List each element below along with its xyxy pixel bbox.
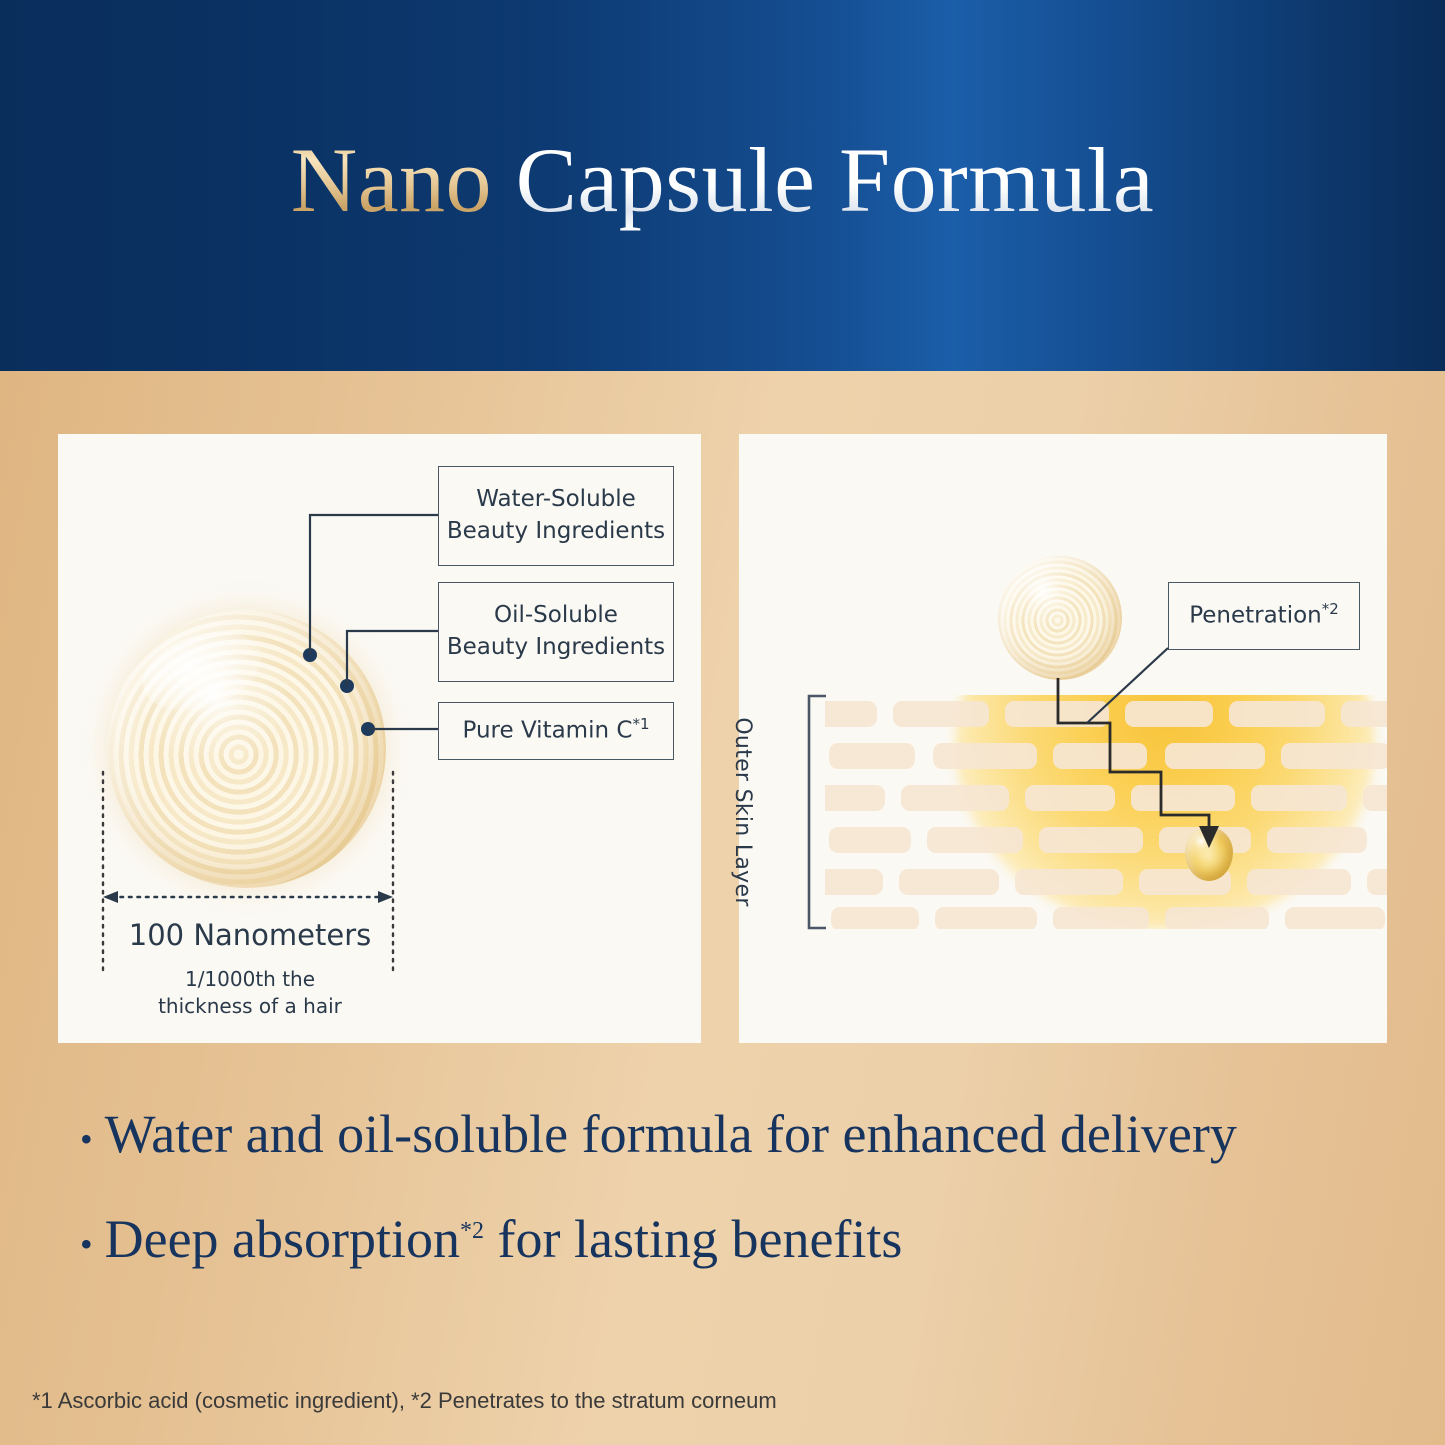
skin-cell <box>1165 743 1265 769</box>
skin-cell <box>1267 827 1367 853</box>
skin-cell <box>1251 785 1347 811</box>
skin-cell <box>831 907 919 929</box>
skin-cell <box>1005 701 1109 727</box>
nano-capsule-illustration <box>108 610 386 888</box>
skin-cell <box>927 827 1023 853</box>
callout-dot-water-soluble <box>303 648 317 662</box>
dimension-value: 100 Nanometers <box>100 918 400 952</box>
label-water-soluble-line2: Beauty Ingredients <box>447 518 665 544</box>
footnote-text: *1 Ascorbic acid (cosmetic ingredient), … <box>32 1388 777 1414</box>
skin-cell <box>1229 701 1325 727</box>
skin-cell <box>1341 701 1387 727</box>
skin-cell <box>1131 785 1235 811</box>
title-word-nano: Nano <box>291 129 492 231</box>
skin-cell <box>1015 869 1123 895</box>
skin-cell <box>1125 701 1213 727</box>
dimension-subtext-line2: thickness of a hair <box>158 994 342 1018</box>
title-word-capsule-formula: Capsule Formula <box>492 129 1154 231</box>
skin-cell <box>825 701 877 727</box>
skin-cell <box>1039 827 1143 853</box>
skin-cell <box>893 701 989 727</box>
label-penetration-text: Penetration <box>1189 603 1322 629</box>
skin-cell <box>933 743 1037 769</box>
skin-cell <box>1363 785 1387 811</box>
skin-cell <box>1285 907 1385 929</box>
skin-cell <box>829 827 911 853</box>
benefit-item-2-text-before: Deep absorption <box>105 1209 460 1269</box>
bullet-marker: • <box>80 1224 105 1264</box>
page-title: Nano Capsule Formula <box>0 132 1445 229</box>
label-water-soluble-line1: Water-Soluble <box>476 486 636 512</box>
benefit-item-2-superscript: *2 <box>460 1218 484 1244</box>
outer-skin-layer-label: Outer Skin Layer <box>730 700 755 924</box>
dimension-subtext-line1: 1/1000th the <box>185 967 315 991</box>
label-oil-soluble-line1: Oil-Soluble <box>494 602 618 628</box>
dimension-subtext: 1/1000th the thickness of a hair <box>100 966 400 1020</box>
nano-capsule-small-illustration <box>998 556 1122 680</box>
label-pure-vitamin-c-text: Pure Vitamin C <box>463 718 633 744</box>
label-pure-vitamin-c: Pure Vitamin C*1 <box>438 702 674 760</box>
label-oil-soluble: Oil-Soluble Beauty Ingredients <box>438 582 674 682</box>
label-oil-soluble-line2: Beauty Ingredients <box>447 634 665 660</box>
skin-cell <box>829 743 915 769</box>
bullet-marker: • <box>80 1119 105 1159</box>
benefit-item-2: •Deep absorption*2 for lasting benefits <box>80 1210 1380 1268</box>
benefit-item-2-text-after: for lasting benefits <box>484 1209 902 1269</box>
skin-cell <box>1247 869 1351 895</box>
skin-cell <box>935 907 1037 929</box>
benefit-item-1: •Water and oil-soluble formula for enhan… <box>80 1105 1380 1163</box>
label-water-soluble: Water-Soluble Beauty Ingredients <box>438 466 674 566</box>
benefits-list: •Water and oil-soluble formula for enhan… <box>80 1105 1380 1269</box>
skin-cell <box>899 869 999 895</box>
skin-cell <box>825 785 885 811</box>
skin-cell <box>825 869 883 895</box>
benefit-item-1-text: Water and oil-soluble formula for enhanc… <box>105 1104 1237 1164</box>
callout-dot-oil-soluble <box>340 679 354 693</box>
skin-cell <box>1281 743 1387 769</box>
skin-cell <box>1053 907 1149 929</box>
skin-cell <box>1367 869 1387 895</box>
skin-cell <box>901 785 1009 811</box>
header-banner: Nano Capsule Formula <box>0 0 1445 371</box>
skin-layer-illustration <box>825 695 1387 929</box>
label-penetration-superscript: *2 <box>1322 600 1339 618</box>
skin-cell <box>1025 785 1115 811</box>
label-pure-vitamin-c-superscript: *1 <box>632 715 649 733</box>
skin-cell <box>1053 743 1147 769</box>
page-root: Nano Capsule Formula Water-Soluble Beaut… <box>0 0 1445 1445</box>
callout-dot-vitamin-c <box>361 722 375 736</box>
label-penetration: Penetration*2 <box>1168 582 1360 650</box>
skin-cell <box>1165 907 1269 929</box>
